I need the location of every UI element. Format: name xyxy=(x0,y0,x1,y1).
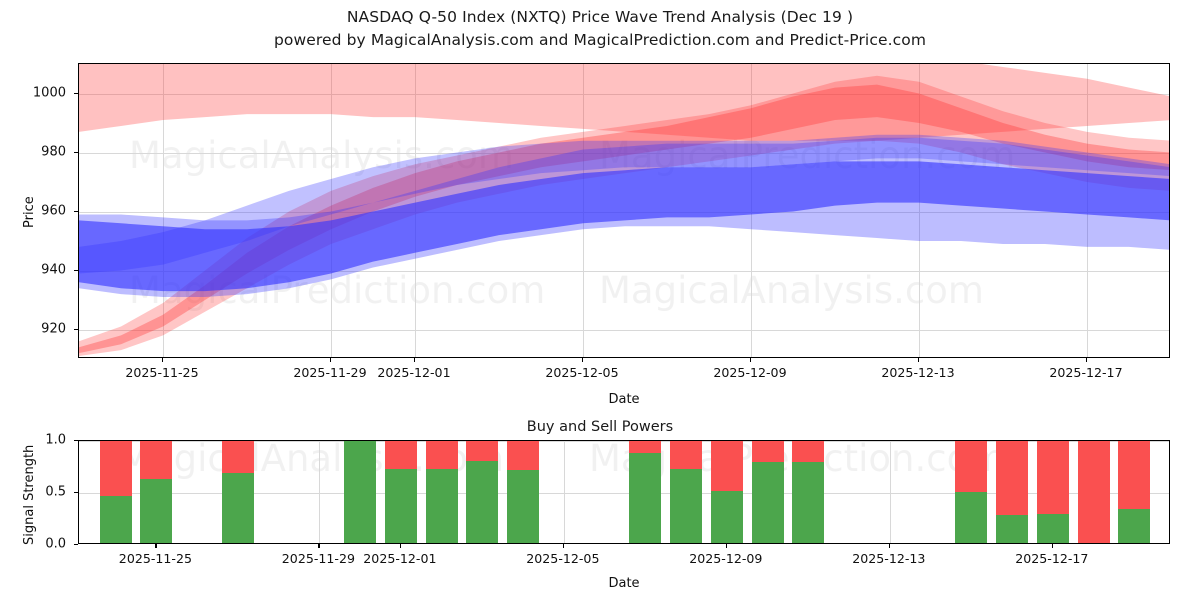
buy-power-segment xyxy=(100,496,132,543)
power-bar[interactable] xyxy=(711,440,743,543)
price-x-tick: 2025-12-05 xyxy=(545,365,618,380)
sell-power-segment xyxy=(792,440,824,462)
power-x-tick: 2025-12-01 xyxy=(363,551,436,566)
sell-power-segment xyxy=(507,440,539,470)
power-bar[interactable] xyxy=(792,440,824,543)
power-bar[interactable] xyxy=(507,440,539,543)
power-bar[interactable] xyxy=(1037,440,1069,543)
buy-power-segment xyxy=(466,461,498,543)
price-x-tick: 2025-12-09 xyxy=(713,365,786,380)
price-y-tickmark xyxy=(74,211,78,212)
sell-power-segment xyxy=(996,440,1028,515)
power-bar[interactable] xyxy=(996,440,1028,543)
power-bar[interactable] xyxy=(344,440,376,543)
sell-power-segment xyxy=(100,440,132,496)
buy-power-segment xyxy=(629,453,661,543)
price-x-tick: 2025-12-13 xyxy=(881,365,954,380)
price-x-tick: 2025-12-01 xyxy=(377,365,450,380)
price-x-tickmark xyxy=(162,358,163,362)
price-y-tick: 940 xyxy=(41,262,66,277)
buy-power-segment xyxy=(507,470,539,543)
price-x-tick: 2025-11-25 xyxy=(125,365,198,380)
buy-power-segment xyxy=(752,462,784,543)
price-x-tickmark xyxy=(414,358,415,362)
buy-power-segment xyxy=(344,440,376,543)
buy-power-segment xyxy=(1037,514,1069,543)
price-y-tick: 980 xyxy=(41,144,66,159)
price-wave-chart: MagicalAnalysis.comMagicalPrediction.com… xyxy=(78,63,1170,358)
price-y-tickmark xyxy=(74,329,78,330)
figure-subtitle-line2: powered by MagicalAnalysis.com and Magic… xyxy=(0,31,1200,49)
power-x-tickmark xyxy=(400,544,401,548)
power-x-tick: 2025-12-05 xyxy=(526,551,599,566)
power-x-tick: 2025-11-29 xyxy=(282,551,355,566)
power-x-tick: 2025-12-09 xyxy=(689,551,762,566)
price-y-tickmark xyxy=(74,270,78,271)
power-y-tick: 0.5 xyxy=(45,485,66,500)
buy-power-segment xyxy=(670,469,702,543)
power-x-tickmark xyxy=(1052,544,1053,548)
buy-power-segment xyxy=(792,462,824,543)
price-y-tick: 920 xyxy=(41,321,66,336)
sell-power-segment xyxy=(955,440,987,492)
buy-power-segment xyxy=(1118,509,1150,543)
buy-power-segment xyxy=(426,469,458,543)
power-bar[interactable] xyxy=(222,440,254,543)
price-x-tickmark xyxy=(918,358,919,362)
power-y-tickmark xyxy=(74,440,78,441)
power-x-tick: 2025-12-17 xyxy=(1015,551,1088,566)
power-x-tick: 2025-12-13 xyxy=(852,551,925,566)
power-bar[interactable] xyxy=(466,440,498,543)
power-bar[interactable] xyxy=(1078,440,1110,543)
buy-sell-powers-chart: MagicalAnalysis.comMagicalPrediction.com xyxy=(78,440,1170,544)
price-x-tick: 2025-12-17 xyxy=(1049,365,1122,380)
power-bar[interactable] xyxy=(670,440,702,543)
price-y-tick: 960 xyxy=(41,203,66,218)
power-x-axis-label: Date xyxy=(608,576,639,591)
sell-power-segment xyxy=(1078,440,1110,543)
figure-root: NASDAQ Q-50 Index (NXTQ) Price Wave Tren… xyxy=(0,0,1200,600)
gridline-vertical xyxy=(564,441,565,543)
price-y-axis-label: Price xyxy=(22,196,37,228)
sell-power-segment xyxy=(1118,440,1150,509)
sell-power-segment xyxy=(426,440,458,469)
power-bar[interactable] xyxy=(752,440,784,543)
power-x-tickmark xyxy=(155,544,156,548)
price-y-tickmark xyxy=(74,93,78,94)
power-y-tick: 0.0 xyxy=(45,537,66,552)
sell-power-segment xyxy=(140,440,172,479)
price-y-tickmark xyxy=(74,152,78,153)
power-bar[interactable] xyxy=(1118,440,1150,543)
power-bar[interactable] xyxy=(426,440,458,543)
power-bar[interactable] xyxy=(955,440,987,543)
power-y-axis-label: Signal Strength xyxy=(22,445,37,545)
power-x-tickmark xyxy=(726,544,727,548)
price-x-tickmark xyxy=(330,358,331,362)
sell-power-segment xyxy=(1037,440,1069,514)
power-bar[interactable] xyxy=(100,440,132,543)
gridline-vertical xyxy=(890,441,891,543)
power-y-tick: 1.0 xyxy=(45,433,66,448)
sell-power-segment xyxy=(629,440,661,453)
buy-power-segment xyxy=(955,492,987,543)
sell-power-segment xyxy=(385,440,417,469)
sell-power-segment xyxy=(670,440,702,469)
gridline-vertical xyxy=(319,441,320,543)
price-y-tick: 1000 xyxy=(33,85,66,100)
power-bar[interactable] xyxy=(385,440,417,543)
price-x-tick: 2025-11-29 xyxy=(293,365,366,380)
price-wave-bands xyxy=(79,64,1170,358)
price-x-tickmark xyxy=(1086,358,1087,362)
power-chart-title: Buy and Sell Powers xyxy=(0,419,1200,435)
price-x-tickmark xyxy=(582,358,583,362)
price-x-tickmark xyxy=(750,358,751,362)
buy-power-segment xyxy=(140,479,172,543)
power-bar[interactable] xyxy=(140,440,172,543)
sell-power-segment xyxy=(752,440,784,462)
sell-power-segment xyxy=(466,440,498,461)
figure-title-line1: NASDAQ Q-50 Index (NXTQ) Price Wave Tren… xyxy=(0,8,1200,26)
power-x-tickmark xyxy=(889,544,890,548)
sell-power-segment xyxy=(222,440,254,473)
power-y-tickmark xyxy=(74,544,78,545)
sell-power-segment xyxy=(711,440,743,491)
power-x-tickmark xyxy=(318,544,319,548)
price-x-axis-label: Date xyxy=(608,392,639,407)
buy-power-segment xyxy=(996,515,1028,543)
buy-power-segment xyxy=(385,469,417,543)
power-x-tick: 2025-11-25 xyxy=(119,551,192,566)
power-x-tickmark xyxy=(563,544,564,548)
buy-power-segment xyxy=(711,491,743,543)
buy-power-segment xyxy=(222,473,254,543)
power-y-tickmark xyxy=(74,492,78,493)
power-bar[interactable] xyxy=(629,440,661,543)
